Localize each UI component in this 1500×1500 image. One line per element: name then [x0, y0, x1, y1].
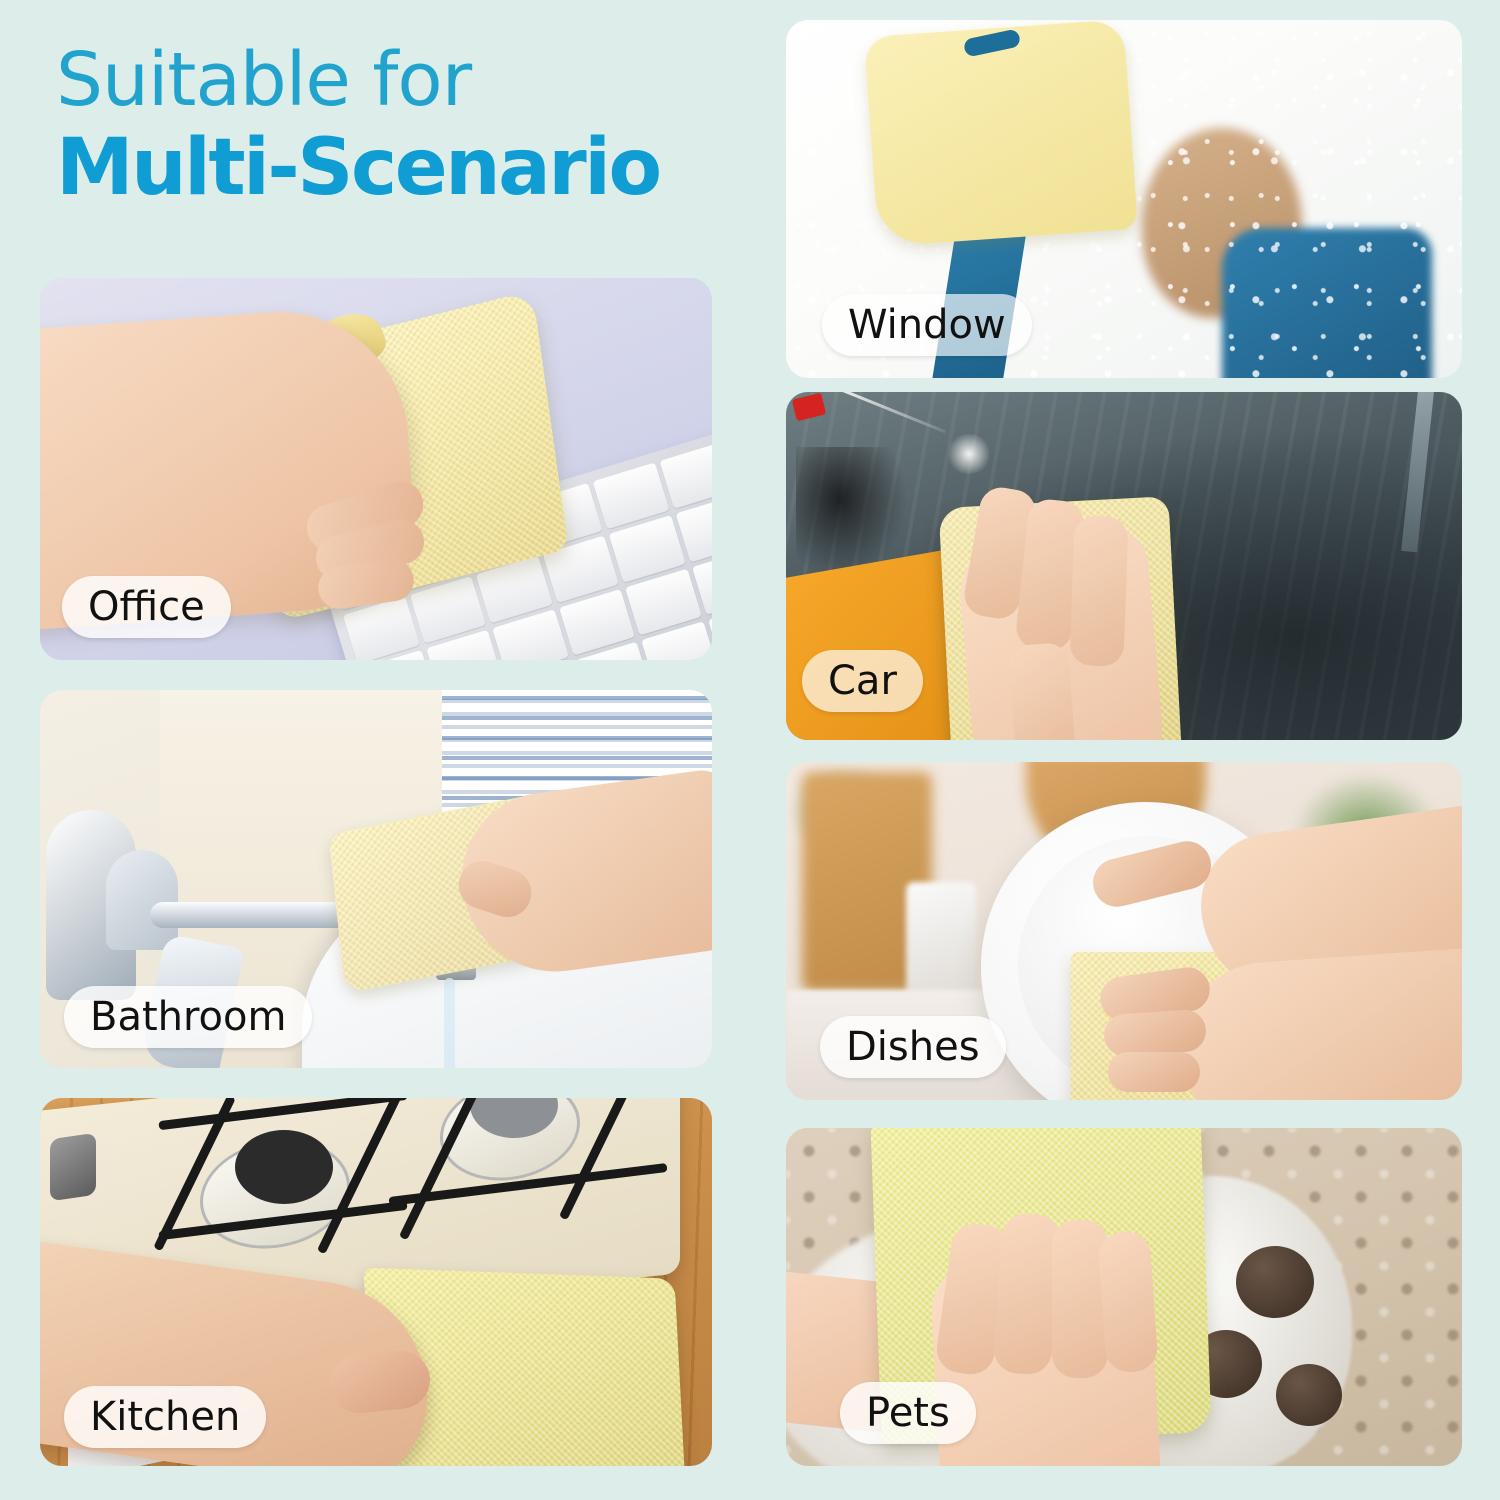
burner-cap [235, 1130, 333, 1204]
stove-knob [50, 1133, 96, 1201]
page-title: Suitable for Multi-Scenario [56, 42, 756, 211]
microfiber-cloth [864, 20, 1138, 247]
panel-pets[interactable]: Pets [786, 1128, 1462, 1466]
panel-office[interactable]: Office [40, 278, 712, 660]
running-water [444, 978, 455, 1068]
label-bathroom: Bathroom [64, 986, 312, 1048]
label-kitchen: Kitchen [64, 1386, 266, 1448]
label-car: Car [802, 650, 923, 712]
panel-window[interactable]: Window [786, 20, 1462, 378]
heading-line-1: Suitable for [56, 42, 756, 120]
label-pets: Pets [840, 1382, 976, 1444]
label-dishes: Dishes [820, 1016, 1006, 1078]
panel-bathroom[interactable]: Bathroom [40, 690, 712, 1068]
panel-car[interactable]: Car [786, 392, 1462, 740]
panel-kitchen[interactable]: Kitchen [40, 1098, 712, 1466]
heading-line-2: Multi-Scenario [56, 126, 756, 212]
label-office: Office [62, 576, 231, 638]
panel-dishes[interactable]: Dishes [786, 762, 1462, 1100]
label-window: Window [822, 294, 1032, 356]
